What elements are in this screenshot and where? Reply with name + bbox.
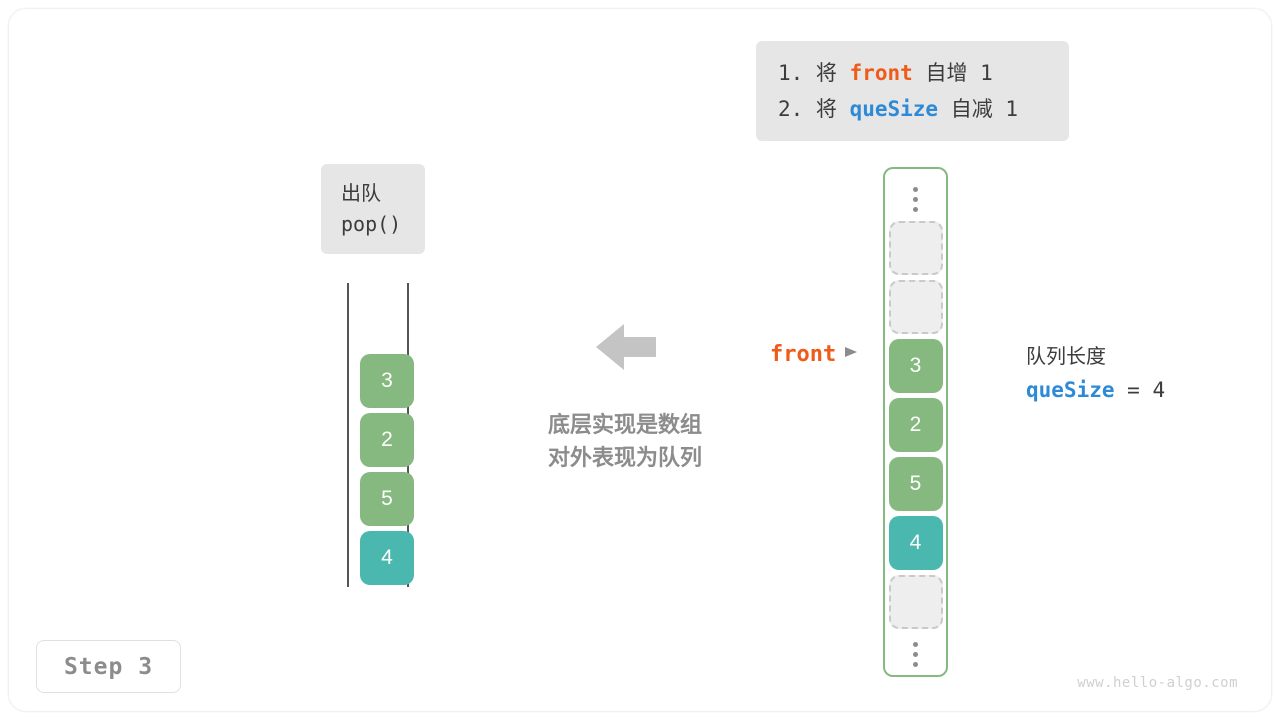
instruction-line-2-suffix: 自减 1 (938, 97, 1018, 121)
operation-label-cn: 出队 (341, 179, 425, 209)
array-empty-slot (889, 221, 943, 275)
front-pointer-arrow-icon (844, 345, 858, 364)
queue-size-expression: queSize = 4 (1026, 373, 1165, 407)
instruction-line-2-prefix: 2. 将 (778, 97, 850, 121)
instruction-line-1: 1. 将 front 自增 1 (778, 55, 1047, 91)
ellipsis-dot (913, 662, 918, 667)
array-empty-slot (889, 280, 943, 334)
queue-cell: 3 (360, 354, 414, 408)
diagram-canvas: 1. 将 front 自增 1 2. 将 queSize 自减 1 出队 pop… (0, 0, 1280, 720)
queue-cell: 4 (360, 531, 414, 585)
instruction-line-1-suffix: 自增 1 (913, 61, 993, 85)
array-top-ellipsis-icon (913, 187, 918, 212)
ellipsis-dot (913, 187, 918, 192)
instruction-line-2: 2. 将 queSize 自减 1 (778, 91, 1047, 127)
array-cell: 2 (889, 398, 943, 452)
queue-cell: 5 (360, 472, 414, 526)
center-caption-line-2: 对外表现为队列 (510, 441, 740, 474)
array-empty-slot (889, 575, 943, 629)
array-cell: 3 (889, 339, 943, 393)
ellipsis-dot (913, 652, 918, 657)
logical-queue-cells: 3254 (360, 354, 414, 585)
queue-size-value: 4 (1152, 378, 1165, 402)
instruction-line-2-code: queSize (850, 97, 939, 121)
array-cell: 4 (889, 516, 943, 570)
operation-label-box: 出队 pop() (321, 164, 425, 254)
queue-rail-left (347, 283, 349, 587)
instruction-line-1-code: front (850, 61, 913, 85)
queue-size-note: 队列长度 queSize = 4 (1026, 341, 1165, 407)
queue-size-title: 队列长度 (1026, 341, 1165, 373)
front-pointer: front (770, 342, 858, 367)
array-bottom-ellipsis-icon (913, 642, 918, 667)
queue-cell: 2 (360, 413, 414, 467)
queue-size-equals: = (1115, 378, 1153, 402)
ellipsis-dot (913, 642, 918, 647)
array-container: 3254 (883, 167, 948, 677)
dequeue-arrow-icon (596, 322, 656, 372)
watermark: www.hello-algo.com (1077, 675, 1238, 691)
center-caption-line-1: 底层实现是数组 (510, 408, 740, 441)
operation-label-code: pop() (341, 209, 425, 239)
ellipsis-dot (913, 197, 918, 202)
step-badge: Step 3 (36, 640, 181, 693)
array-cells: 3254 (889, 221, 943, 634)
instruction-panel: 1. 将 front 自增 1 2. 将 queSize 自减 1 (756, 41, 1069, 141)
queue-size-var: queSize (1026, 378, 1115, 402)
front-pointer-label: front (770, 342, 836, 367)
ellipsis-dot (913, 207, 918, 212)
center-caption: 底层实现是数组 对外表现为队列 (510, 408, 740, 474)
logical-queue-column: 3254 (340, 283, 416, 587)
array-cell: 5 (889, 457, 943, 511)
instruction-line-1-prefix: 1. 将 (778, 61, 850, 85)
